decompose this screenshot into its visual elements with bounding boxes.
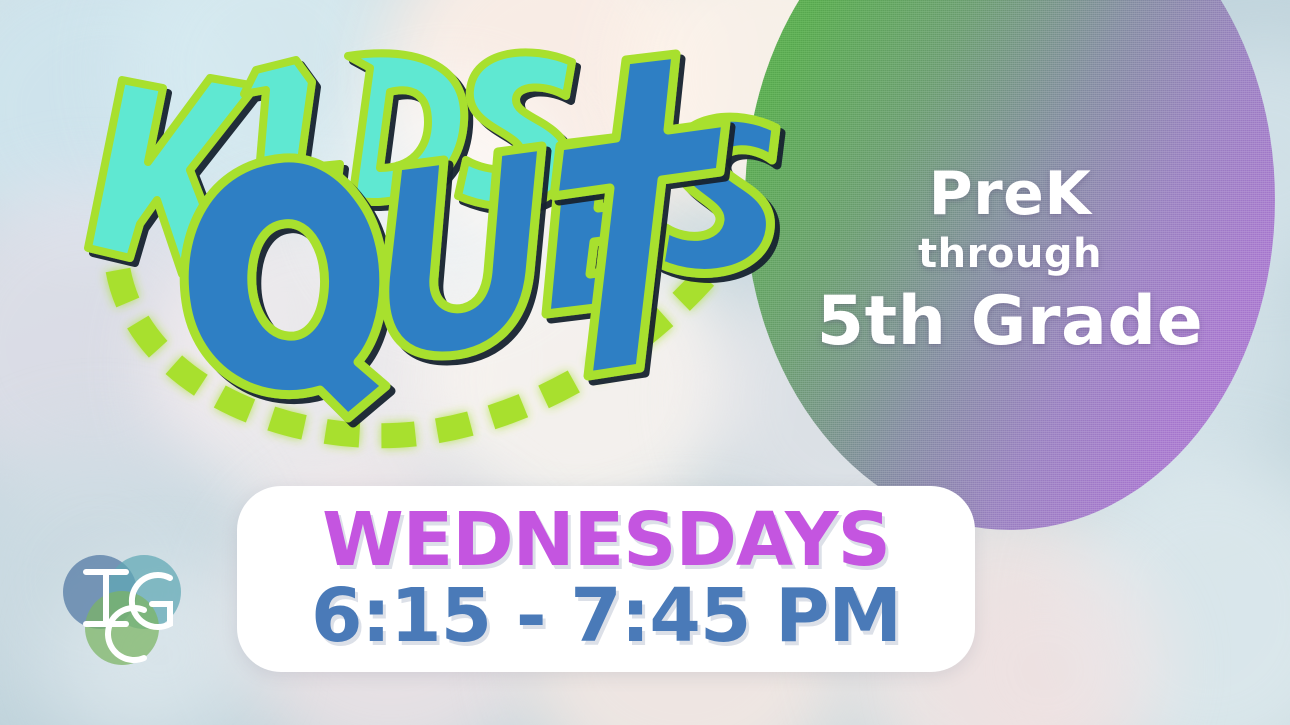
grade-line-fifth: 5th Grade [817, 286, 1203, 357]
grade-line-prek: PreK [929, 163, 1092, 226]
banner-day-label: WEDNESDAYS [322, 504, 890, 577]
schedule-banner: WEDNESDAYS 6:15 - 7:45 PM [237, 486, 975, 672]
grade-line-through: through [918, 232, 1102, 276]
poster-canvas: PreK through 5th Grade [0, 0, 1290, 725]
banner-time-label: 6:15 - 7:45 PM [311, 579, 901, 654]
icg-brand-logo [52, 548, 192, 670]
kids-quest-logo [0, 0, 800, 470]
